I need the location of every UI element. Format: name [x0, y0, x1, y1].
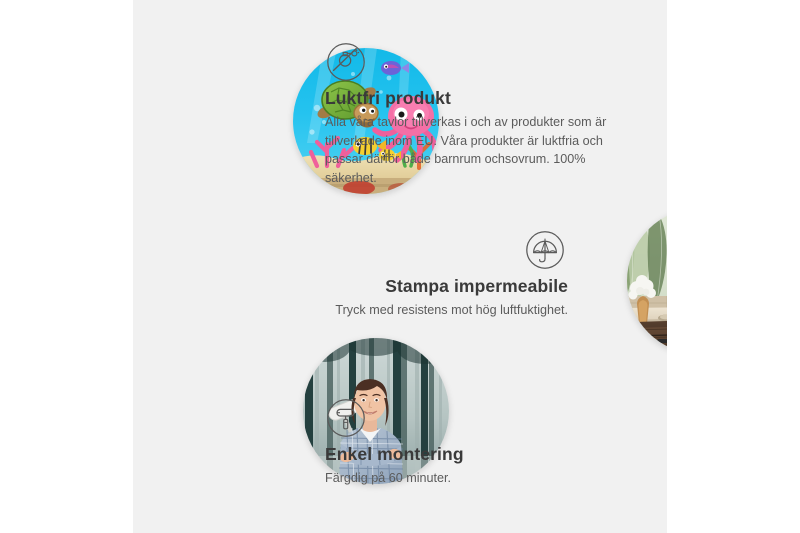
feature-waterproof: Stampa impermeabile Tryck med resistens …	[223, 230, 568, 320]
photo-bathroom	[627, 208, 667, 354]
feature-title: Stampa impermeabile	[223, 276, 568, 297]
no-fragrance-icon	[326, 42, 366, 82]
feature-easy-mount: Enkel montering Färgdig på 60 minuter.	[325, 398, 605, 488]
bathroom-botanical-wallpaper	[627, 208, 667, 354]
feature-description: Tryck med resistens mot hög luftfuktighe…	[223, 301, 568, 320]
feature-title: Luktfri produkt	[325, 88, 623, 109]
umbrella-icon	[525, 230, 565, 270]
umbrella-icon-glyph	[525, 230, 565, 270]
page-root: Luktfri produkt Alla våra tavlor tillver…	[0, 0, 800, 533]
feature-title: Enkel montering	[325, 444, 605, 465]
content-panel: Luktfri produkt Alla våra tavlor tillver…	[133, 0, 667, 533]
paint-roller-icon-glyph	[326, 398, 366, 438]
feature-description: Färgdig på 60 minuter.	[325, 469, 605, 488]
no-fragrance-icon-glyph	[326, 42, 366, 82]
paint-roller-icon	[326, 398, 366, 438]
feature-odourless: Luktfri produkt Alla våra tavlor tillver…	[325, 42, 623, 188]
feature-description: Alla våra tavlor tillverkas i och av pro…	[325, 113, 623, 188]
